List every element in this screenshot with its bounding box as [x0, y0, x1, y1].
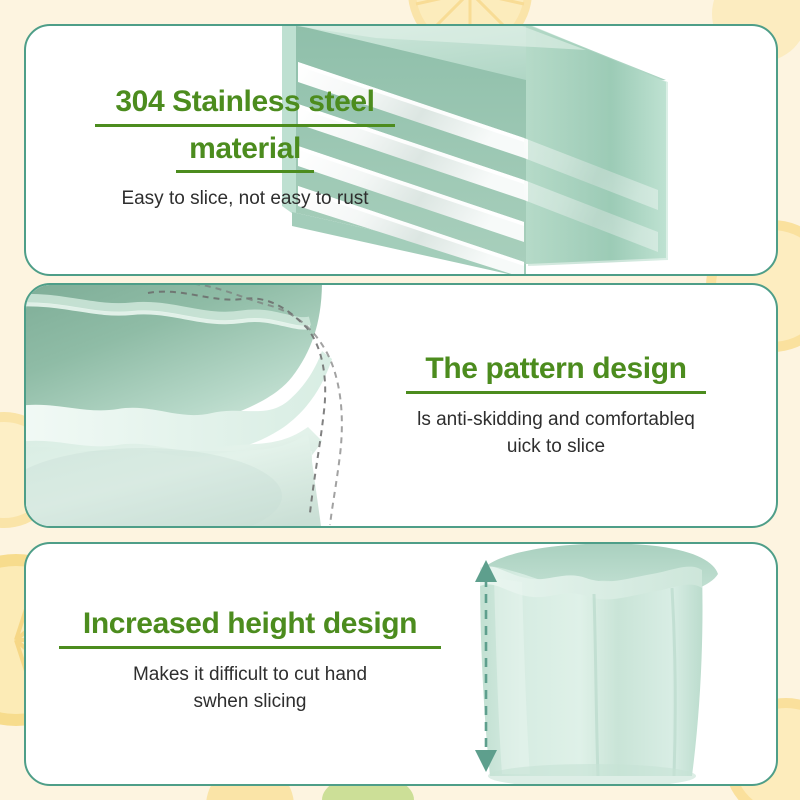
- panel-2-headline: The pattern design: [356, 351, 756, 388]
- feature-panel-pattern-design: The pattern design ls anti-skidding and …: [24, 283, 778, 528]
- panel-2-subtext-line-1: ls anti-skidding and comfortableq: [356, 407, 756, 433]
- height-dimension-arrow: [466, 558, 506, 774]
- panel-3-subtext-line-1: Makes it difficult to cut hand: [40, 662, 460, 688]
- panel-3-text-block: Increased height design Makes it difficu…: [40, 606, 460, 715]
- arrow-head-up: [475, 560, 497, 582]
- infographic-page: 304 Stainless steel material Easy to sli…: [0, 0, 800, 800]
- feature-panel-stainless-steel: 304 Stainless steel material Easy to sli…: [24, 24, 778, 276]
- scalloped-cup-image: [24, 283, 402, 528]
- arrow-head-down: [475, 750, 497, 772]
- panel-1-headline-line-1: 304 Stainless steel: [40, 84, 450, 121]
- panel-2-text-block: The pattern design ls anti-skidding and …: [356, 351, 756, 460]
- panel-1-headline-line-2: material: [40, 131, 450, 168]
- panel-1-subtext: Easy to slice, not easy to rust: [40, 186, 450, 212]
- panel-1-headline-underline-1: [95, 124, 395, 127]
- feature-panel-increased-height: Increased height design Makes it difficu…: [24, 542, 778, 786]
- panel-1-headline-underline-2: [176, 170, 314, 173]
- panel-2-headline-underline: [406, 391, 706, 394]
- panel-1-text-block: 304 Stainless steel material Easy to sli…: [40, 84, 450, 212]
- panel-3-subtext-line-2: swhen slicing: [40, 689, 460, 715]
- panel-3-headline-underline: [59, 646, 441, 649]
- panel-3-headline: Increased height design: [40, 606, 460, 643]
- panel-2-subtext-line-2: uick to slice: [356, 434, 756, 460]
